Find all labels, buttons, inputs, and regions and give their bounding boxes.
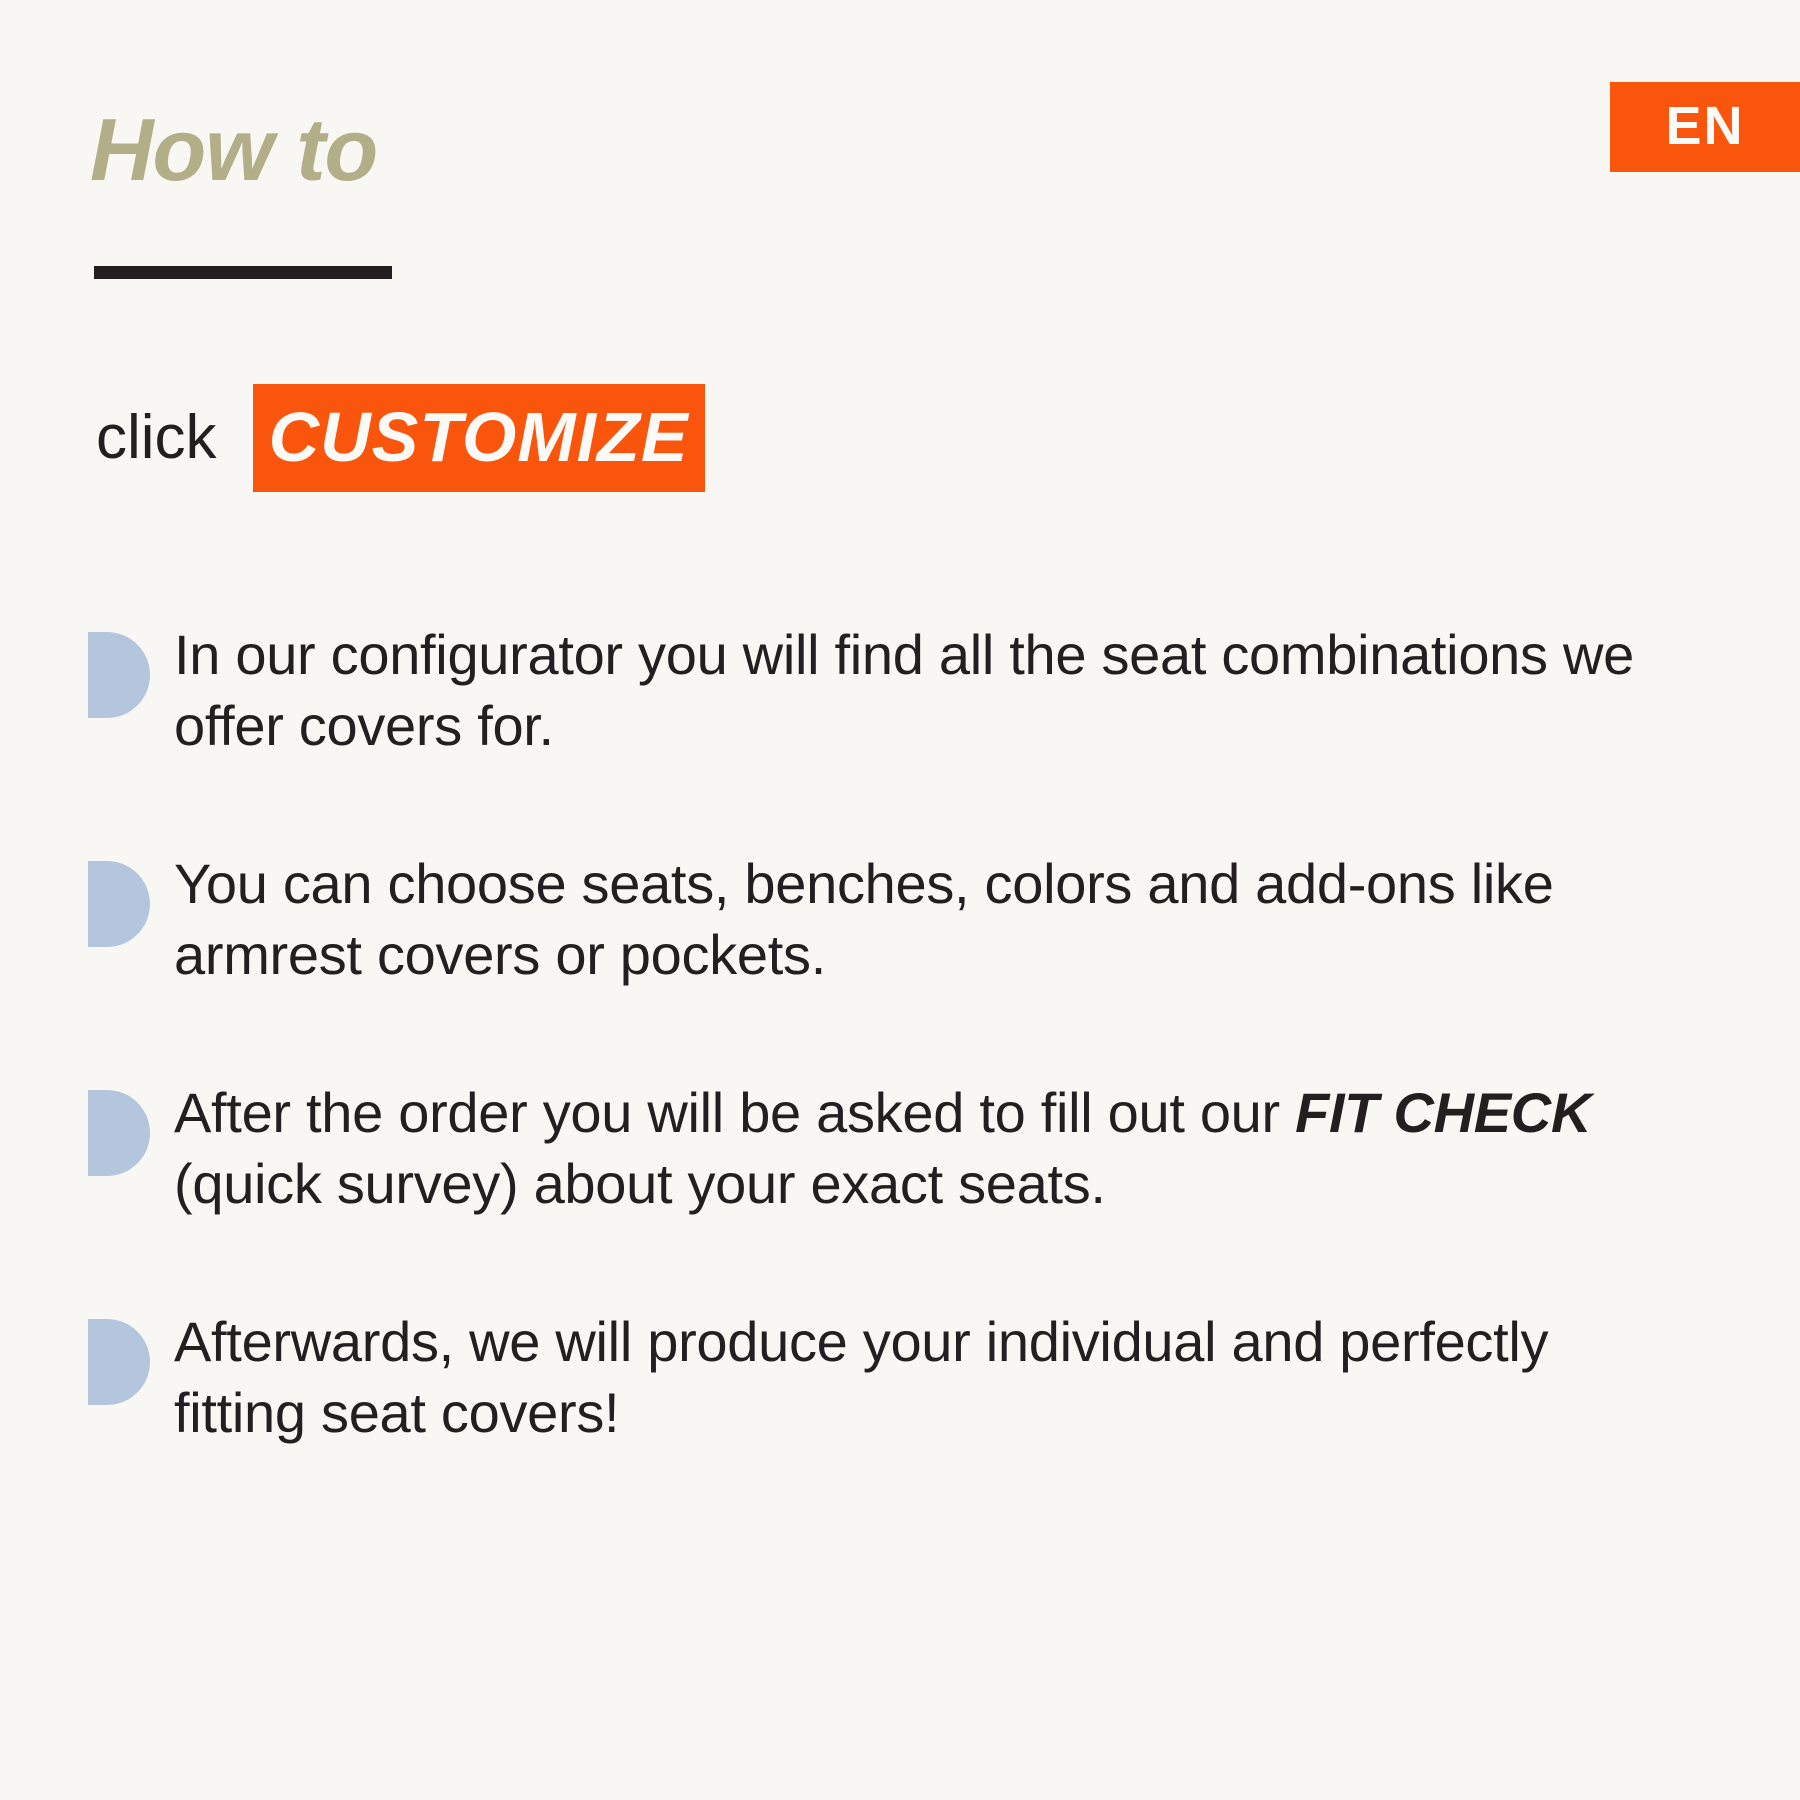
list-item-text: Afterwards, we will produce your individ… <box>174 1307 1684 1448</box>
list-item-text: In our configurator you will find all th… <box>174 620 1684 761</box>
half-circle-bullet-icon <box>88 1319 150 1405</box>
list-item-text-after: (quick survey) about your exact seats. <box>174 1152 1106 1215</box>
cta-prefix-label: click <box>96 407 217 469</box>
fit-check-emphasis: FIT CHECK <box>1295 1081 1591 1144</box>
list-item-text: You can choose seats, benches, colors an… <box>174 849 1684 990</box>
list-item: You can choose seats, benches, colors an… <box>88 849 1728 990</box>
list-item: After the order you will be asked to fil… <box>88 1078 1728 1219</box>
page-title: How to <box>90 104 377 196</box>
half-circle-bullet-icon <box>88 861 150 947</box>
language-badge[interactable]: EN <box>1610 82 1800 172</box>
instruction-list: In our configurator you will find all th… <box>88 620 1728 1448</box>
title-underline-rule <box>94 266 392 279</box>
list-item: In our configurator you will find all th… <box>88 620 1728 761</box>
list-item-text: After the order you will be asked to fil… <box>174 1078 1684 1219</box>
customize-highlight-label[interactable]: CUSTOMIZE <box>253 384 705 492</box>
half-circle-bullet-icon <box>88 632 150 718</box>
call-to-action-line: click CUSTOMIZE <box>96 388 705 488</box>
half-circle-bullet-icon <box>88 1090 150 1176</box>
language-badge-label: EN <box>1665 99 1744 153</box>
list-item: Afterwards, we will produce your individ… <box>88 1307 1728 1448</box>
list-item-text-before: After the order you will be asked to fil… <box>174 1081 1295 1144</box>
